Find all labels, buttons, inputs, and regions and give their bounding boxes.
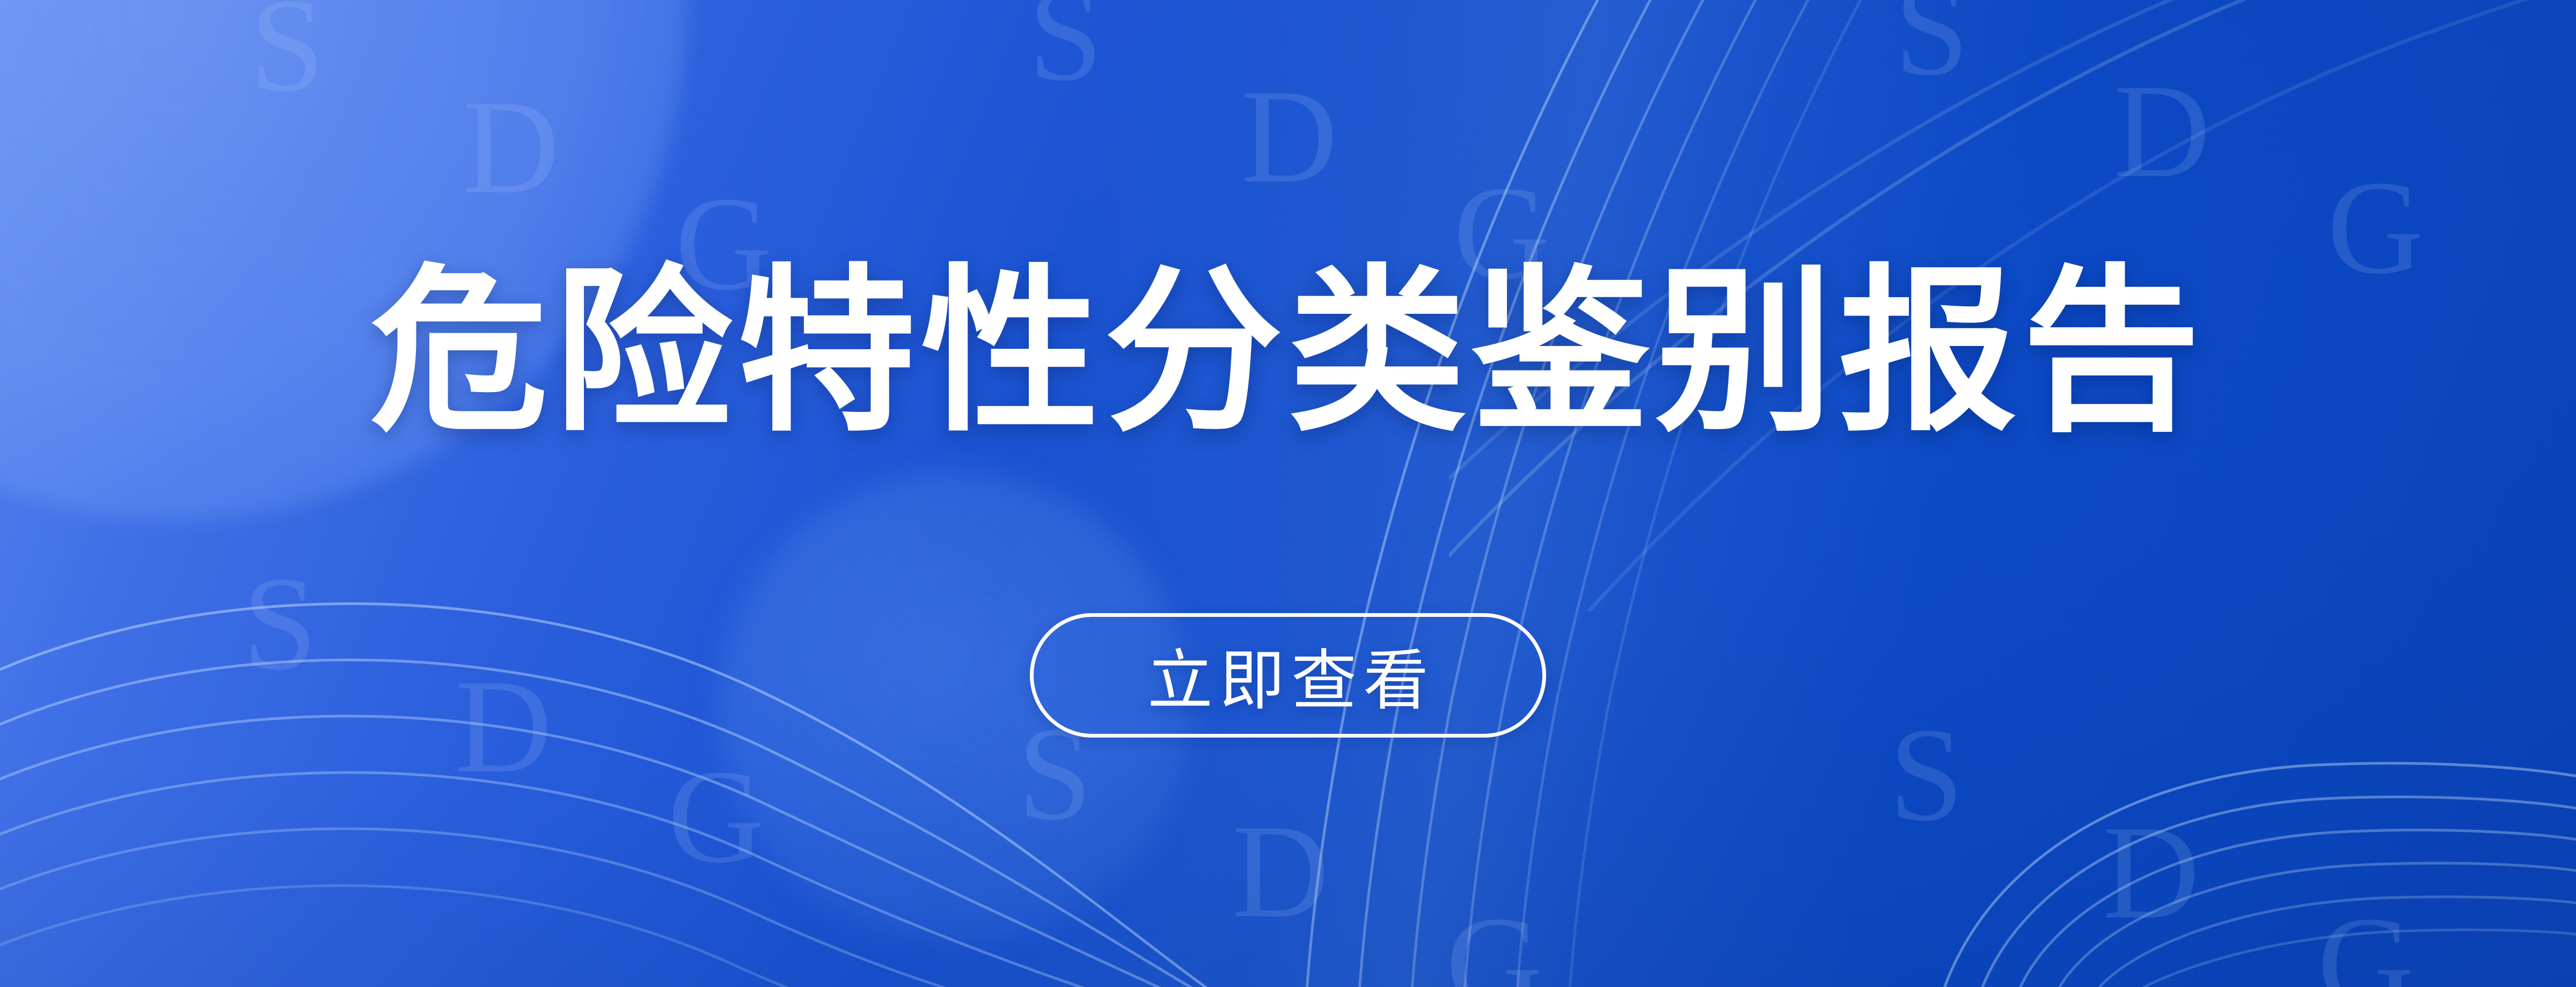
banner-content: 危险特性分类鉴别报告 立即查看: [0, 0, 2576, 987]
view-now-button[interactable]: 立即查看: [1030, 613, 1546, 738]
view-now-button-label: 立即查看: [1147, 628, 1435, 723]
promo-banner: SDGSDGSDGSDGSDGSDG 危险特性分类鉴别报告 立即查看: [0, 0, 2576, 987]
page-title: 危险特性分类鉴别报告: [370, 256, 2206, 449]
